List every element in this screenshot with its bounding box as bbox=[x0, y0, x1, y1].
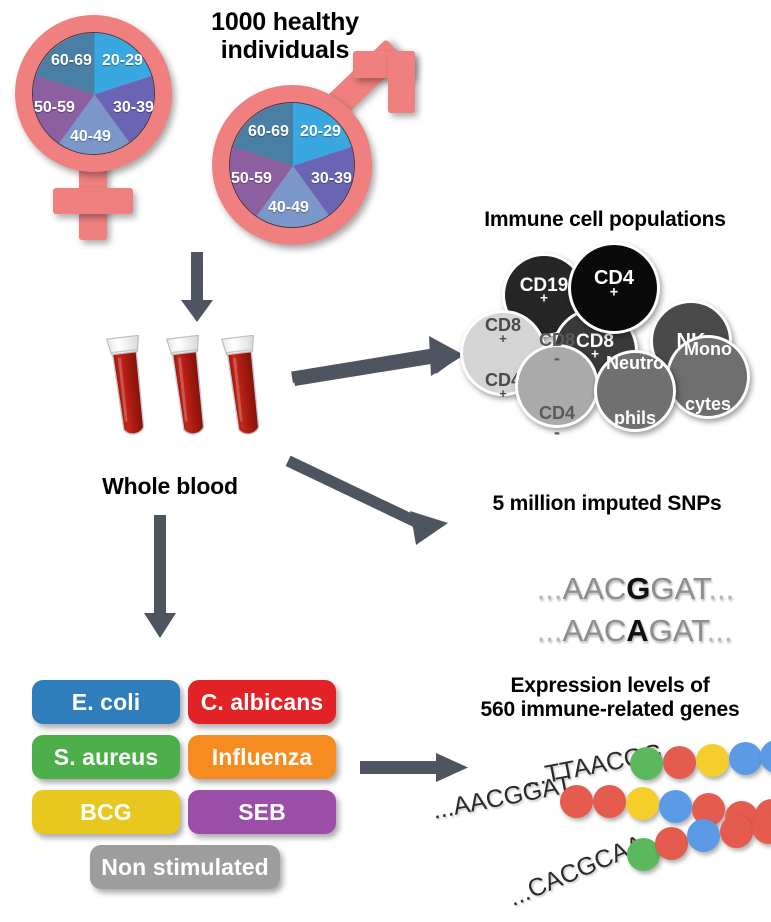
stimulus-pill-seb[interactable]: SEB bbox=[188, 790, 336, 834]
cd19-plus-sign: + bbox=[540, 291, 548, 306]
expression-strand-1-bead-1 bbox=[630, 747, 663, 780]
blood-tubes bbox=[95, 335, 280, 455]
cd8-minus-sign: - bbox=[539, 349, 575, 367]
stimulus-pill-non-stimulated[interactable]: Non stimulated bbox=[90, 845, 280, 889]
cell-bubble-monocytes: Mono cytes bbox=[666, 335, 750, 419]
stimulus-pill-bcg[interactable]: BCG bbox=[32, 790, 180, 834]
stimulus-pill-e-coli[interactable]: E. coli bbox=[32, 680, 180, 724]
female-pie-label-40-49: 40-49 bbox=[70, 128, 111, 146]
female-pie-label-30-39: 30-39 bbox=[113, 99, 154, 117]
male-pie-label-20-29: 20-29 bbox=[300, 123, 341, 141]
cohort-heading-line1: 1000 healthy bbox=[175, 8, 395, 36]
arrow-blood-to-immune-cells bbox=[290, 330, 465, 380]
cell-label-monocytes-line2: cytes bbox=[684, 395, 732, 413]
arrow-blood-to-snps bbox=[288, 455, 468, 547]
male-pie-label-30-39: 30-39 bbox=[311, 170, 352, 188]
arrow-blood-to-stimuli bbox=[140, 515, 180, 640]
cell-label-cd8neg-cd4neg-line2: CD4 bbox=[539, 404, 575, 422]
cd4-minus-sign: - bbox=[539, 423, 575, 441]
expression-strands: ...TTAACGG ...AACGGAT ...CACGCAA bbox=[455, 735, 770, 915]
stimulus-label-e-coli: E. coli bbox=[72, 689, 140, 716]
stimulus-label-non-stimulated: Non stimulated bbox=[101, 854, 269, 881]
expression-strand-3-bead-3 bbox=[687, 819, 720, 852]
expression-strand-2-bead-3 bbox=[626, 787, 659, 820]
expression-strand-1-bead-4 bbox=[729, 742, 762, 775]
expression-strand-3-text: ...CACGCAA bbox=[504, 830, 648, 913]
expression-strand-2-bead-4 bbox=[659, 790, 692, 823]
female-pie-label-60-69: 60-69 bbox=[51, 52, 92, 70]
whole-blood-label: Whole blood bbox=[70, 474, 270, 500]
expression-heading-line2: 560 immune-related genes bbox=[455, 698, 765, 722]
expression-strand-1-bead-3 bbox=[696, 744, 729, 777]
immune-cell-cluster: CD19+ CD4+ NK CD8+ CD4+ CD8+ CD8- CD4- bbox=[460, 240, 760, 420]
cd8-plus-sign: + bbox=[591, 347, 599, 362]
cd8pos-plus-sign: + bbox=[499, 331, 507, 346]
female-symbol-crossbar bbox=[53, 188, 133, 214]
stimulus-pill-influenza[interactable]: Influenza bbox=[188, 735, 336, 779]
cell-bubble-cd4: CD4+ bbox=[568, 242, 660, 334]
figure-canvas: 1000 healthy individuals 20-29 30-39 bbox=[0, 0, 771, 922]
expression-strand-3-bead-2 bbox=[655, 827, 688, 860]
snp-row2-variant: A bbox=[626, 613, 648, 648]
snp-row2-suffix: ... bbox=[707, 613, 733, 648]
snp-sequences: ...AACGGAT... ...AACAGAT... bbox=[485, 535, 745, 625]
female-pie-label-50-59: 50-59 bbox=[34, 99, 75, 117]
expression-strand-1-bead-5 bbox=[760, 740, 771, 773]
cd4pos-plus-sign: + bbox=[499, 386, 507, 401]
stimulus-label-influenza: Influenza bbox=[212, 744, 313, 771]
stimulus-label-seb: SEB bbox=[238, 799, 286, 826]
snp-row2-right: GAT bbox=[649, 613, 707, 648]
male-pie-label-60-69: 60-69 bbox=[248, 123, 289, 141]
male-symbol: 20-29 30-39 40-49 50-59 60-69 bbox=[205, 55, 420, 255]
male-symbol-arrowhead-2 bbox=[388, 51, 415, 113]
arrow-cohort-to-blood bbox=[177, 252, 217, 324]
immune-cell-heading: Immune cell populations bbox=[455, 208, 755, 232]
stimulus-label-s-aureus: S. aureus bbox=[54, 744, 158, 771]
expression-strand-3-bead-4 bbox=[720, 815, 753, 848]
male-pie-label-40-49: 40-49 bbox=[268, 199, 309, 217]
cell-label-cd8neg-cd4neg-line1: CD8 bbox=[539, 331, 575, 349]
arrow-stimuli-to-expression bbox=[360, 752, 470, 784]
stimulus-label-bcg: BCG bbox=[80, 799, 131, 826]
stimuli-panel: E. coli C. albicans S. aureus Influenza … bbox=[32, 680, 342, 895]
female-pie-label-20-29: 20-29 bbox=[102, 52, 143, 70]
cell-bubble-cd8neg-cd4neg: CD8- CD4- bbox=[515, 344, 599, 428]
stimulus-label-c-albicans: C. albicans bbox=[201, 689, 324, 716]
snp-sequence-row-2: ...AACAGAT... bbox=[485, 577, 733, 685]
cell-label-neutrophils-line2: phils bbox=[606, 409, 664, 427]
expression-heading-line1: Expression levels of bbox=[455, 674, 765, 698]
cell-label-monocytes-line1: Mono bbox=[684, 340, 732, 358]
expression-strand-2-bead-1 bbox=[560, 785, 593, 818]
snp-heading: 5 million imputed SNPs bbox=[462, 492, 752, 516]
expression-strand-3-bead-5 bbox=[752, 811, 771, 844]
cd4-plus-sign: + bbox=[610, 284, 618, 300]
male-pie-label-50-59: 50-59 bbox=[231, 170, 272, 188]
expression-strand-1-bead-2 bbox=[663, 746, 696, 779]
cell-label-neutrophils-line1: Neutro bbox=[606, 354, 664, 372]
stimulus-pill-s-aureus[interactable]: S. aureus bbox=[32, 735, 180, 779]
stimulus-pill-c-albicans[interactable]: C. albicans bbox=[188, 680, 336, 724]
cell-bubble-neutrophils: Neutro phils bbox=[594, 350, 676, 432]
snp-row2-prefix: ... bbox=[537, 613, 563, 648]
female-symbol: 20-29 30-39 40-49 50-59 60-69 bbox=[8, 10, 193, 245]
expression-strand-2-bead-2 bbox=[593, 785, 626, 818]
expression-heading: Expression levels of 560 immune-related … bbox=[455, 674, 765, 721]
snp-row2-left: AAC bbox=[563, 613, 627, 648]
